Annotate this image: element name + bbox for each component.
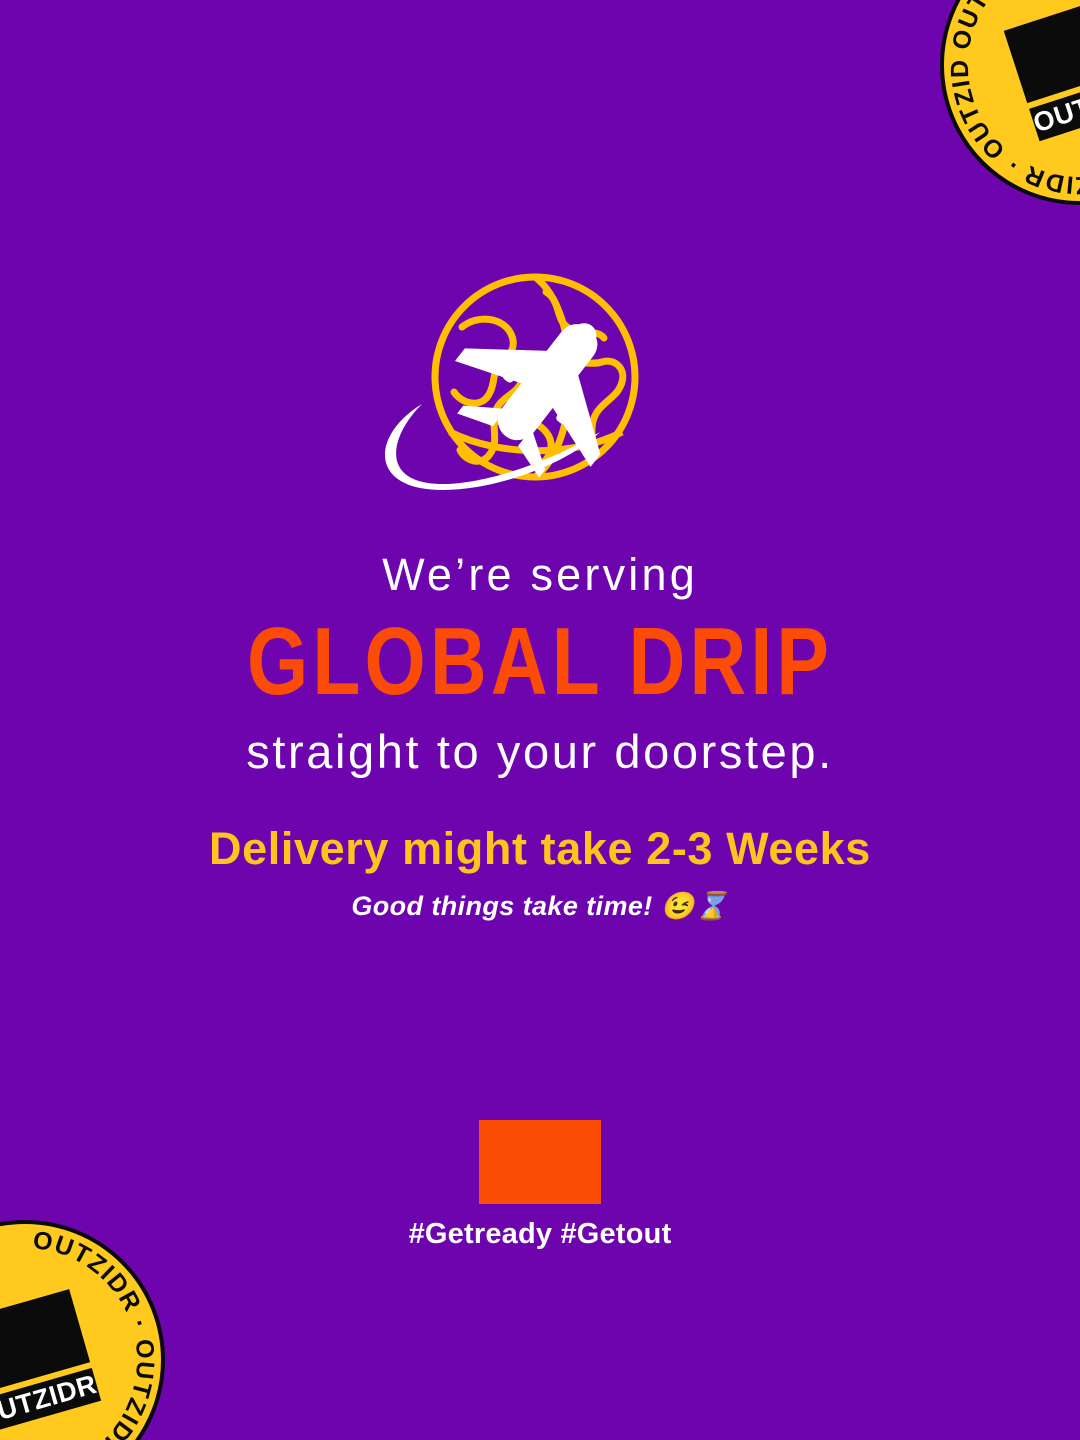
headline-line-3: straight to your doorstep. [0,725,1080,779]
headline-line-2: GLOBAL DRIP [97,613,983,711]
headline-line-1: We’re serving [0,548,1080,601]
brand-badge-bottom-left: OUTZIDR · OUTZIDR · OUTZIDR · OUTZIDR · … [0,1220,165,1440]
delivery-subnote: Good things take time! 😉⌛ [0,890,1080,922]
promo-poster: OUTZIDR · OUTZIDR · OUTZIDR · OUTZIDR · … [0,0,1080,1440]
headline-block: We’re serving GLOBAL DRIP straight to yo… [0,548,1080,779]
footer-hashtags: #Getready #Getout [0,1218,1080,1251]
footer-brand-block: #Getready #Getout [0,1120,1080,1251]
outzidr-z-mark-icon [479,1120,601,1204]
globe-with-airplane-icon [350,272,730,512]
brand-badge-top-right: OUTZIDR · OUTZIDR · OUTZIDR · OUTZIDR · … [940,0,1080,205]
delivery-notice-block: Delivery might take 2-3 Weeks Good thing… [0,822,1080,922]
delivery-notice: Delivery might take 2-3 Weeks [0,822,1080,876]
